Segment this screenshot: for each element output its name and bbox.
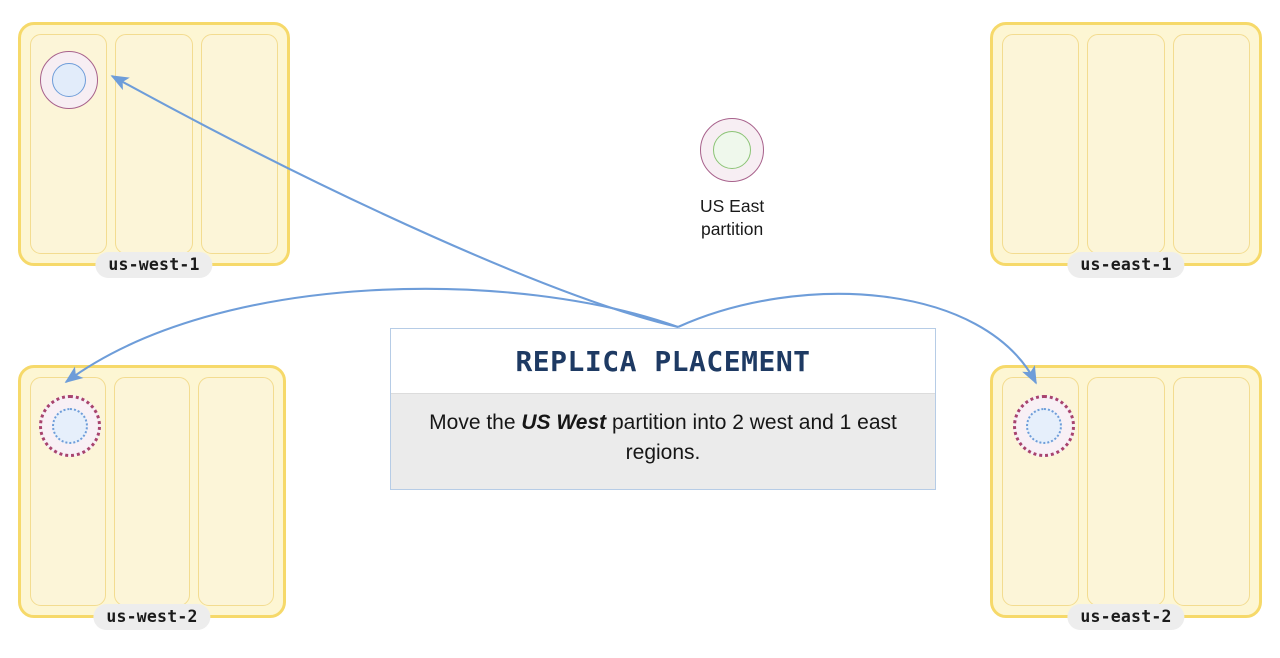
us-east-partition-node[interactable] (700, 118, 764, 182)
region-column (30, 34, 107, 254)
region-us-east-1[interactable]: us-east-1 (990, 22, 1262, 266)
partition-node-us-west-1[interactable] (40, 51, 98, 109)
region-column (201, 34, 278, 254)
region-label-us-west-1: us-west-1 (95, 252, 212, 278)
card-body-prefix: Move the (429, 411, 521, 434)
partition-node-inner (1026, 408, 1062, 444)
region-label-us-west-2: us-west-2 (93, 604, 210, 630)
card-body-suffix: partition into 2 west and 1 east regions… (606, 411, 897, 464)
card-body: Move the US West partition into 2 west a… (391, 393, 935, 489)
region-column (1173, 377, 1250, 606)
card-body-emphasis: US West (521, 411, 606, 434)
region-column (115, 34, 192, 254)
partition-node-inner (52, 63, 86, 97)
diagram-canvas: us-west-1 us-east-1 us-west-2 us-east-2 (0, 0, 1280, 658)
region-us-west-1[interactable]: us-west-1 (18, 22, 290, 266)
card-title: REPLICA PLACEMENT (391, 329, 935, 393)
region-label-us-east-1: us-east-1 (1067, 252, 1184, 278)
partition-node-us-east-2[interactable] (1013, 395, 1075, 457)
us-east-partition-node-inner (713, 131, 751, 169)
region-column (114, 377, 190, 606)
region-column (30, 377, 106, 606)
region-column (1173, 34, 1250, 254)
region-column (1002, 377, 1079, 606)
region-column (1002, 34, 1079, 254)
region-column (1087, 377, 1164, 606)
region-column (198, 377, 274, 606)
partition-node-inner (52, 408, 88, 444)
us-east-partition-caption: US East partition (700, 195, 764, 242)
us-east-partition-node-group[interactable]: US East partition (700, 118, 764, 242)
partition-node-us-west-2[interactable] (39, 395, 101, 457)
region-us-west-2[interactable]: us-west-2 (18, 365, 286, 618)
region-us-east-2[interactable]: us-east-2 (990, 365, 1262, 618)
region-column (1087, 34, 1164, 254)
region-label-us-east-2: us-east-2 (1067, 604, 1184, 630)
replica-placement-card[interactable]: REPLICA PLACEMENT Move the US West parti… (390, 328, 936, 490)
